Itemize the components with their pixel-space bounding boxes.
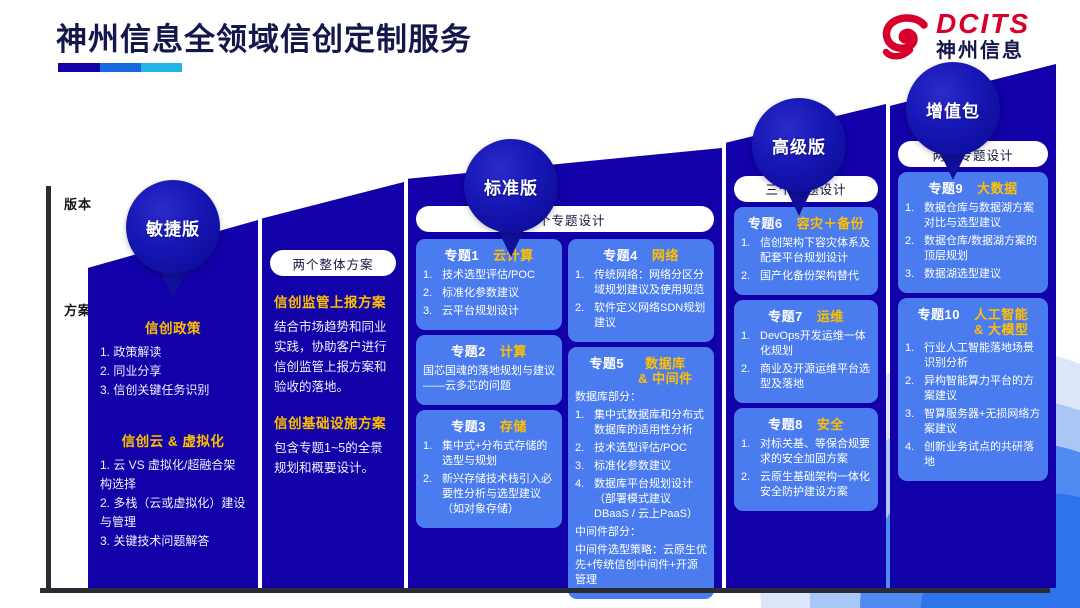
topic-card-item: 3.智算服务器+无损网络方案建议 — [905, 407, 1041, 437]
plan-block: 信创监管上报方案结合市场趋势和同业实践，协助客户进行信创监管上报方案和验收的落地… — [270, 281, 396, 397]
plan-block-heading: 信创监管上报方案 — [274, 291, 392, 311]
item-text: 数据库平台规划设计（部署模式建议 DBaaS / 云上PaaS） — [594, 477, 707, 522]
item-number: 2. — [575, 441, 588, 456]
item-number: 2. — [423, 472, 436, 517]
plan-block-text: 包含专题1~5的全景规划和概要设计。 — [274, 438, 392, 478]
item-number: 1. — [575, 268, 588, 298]
item-number: 2. — [423, 286, 436, 301]
dcits-swirl-icon — [880, 12, 932, 64]
topic-card-item: 4.数据库平台规划设计（部署模式建议 DBaaS / 云上PaaS） — [575, 477, 707, 522]
item-text: 数据湖选型建议 — [924, 267, 1041, 282]
plan-block-heading: 信创云 & 虚拟化 — [100, 430, 246, 450]
topic-card-title: 人工智能& 大模型 — [974, 307, 1029, 337]
pin-value-added[interactable]: 增值包 — [906, 62, 1000, 180]
item-number: 3. — [905, 267, 918, 282]
pin-label-standard: 标准版 — [464, 139, 558, 233]
plan-block-item: 3. 关键技术问题解答 — [100, 532, 246, 551]
plan-block: 信创政策1. 政策解读2. 同业分享3. 信创关键任务识别 — [96, 307, 250, 400]
plan-block: 信创基础设施方案包含专题1~5的全景规划和概要设计。 — [270, 402, 396, 478]
page-title: 神州信息全领域信创定制服务 — [56, 14, 472, 59]
item-number: 3. — [575, 459, 588, 474]
topic-card-item: 1.集中式数据库和分布式数据库的适用性分析 — [575, 408, 707, 438]
topic-card[interactable]: 专题2计算国芯国魂的落地规划与建议——云多芯的问题 — [416, 335, 562, 405]
topic-card-header: 专题8安全 — [741, 414, 871, 433]
item-text: 对标关基、等保合规要求的安全加固方案 — [760, 437, 871, 467]
topic-card-tail: 中间件选型策略：云原生优先+传统信创中间件+开源管理 — [575, 543, 707, 588]
topic-card-list: 1.技术选型评估/POC2.标准化参数建议3.云平台规划设计 — [423, 268, 555, 319]
topic-card-note-2: 中间件部分： — [575, 525, 707, 540]
column-content: 五个专题设计专题1云计算1.技术选型评估/POC2.标准化参数建议3.云平台规划… — [408, 200, 722, 588]
underline-segment-1 — [58, 63, 100, 72]
plan-block-item: 2. 多栈（云或虚拟化）建设与管理 — [100, 494, 246, 532]
topic-card-item: 1.集中式+分布式存储的选型与规划 — [423, 439, 555, 469]
topic-card-title: 计算 — [500, 344, 527, 359]
topic-card-header: 专题10人工智能& 大模型 — [905, 304, 1041, 337]
vertical-axis-line — [46, 186, 51, 588]
topic-card-header: 专题9大数据 — [905, 178, 1041, 197]
plan-block-item: 2. 同业分享 — [100, 362, 246, 381]
item-number: 3. — [905, 407, 918, 437]
title-underline — [58, 63, 182, 72]
underline-segment-2 — [100, 63, 141, 72]
plan-block-heading: 信创基础设施方案 — [274, 412, 392, 432]
topic-card-number: 专题5 — [589, 353, 624, 372]
item-text: 国产化备份架构替代 — [760, 269, 871, 284]
topic-card-number: 专题10 — [918, 304, 960, 323]
item-text: 技术选型评估/POC — [442, 268, 555, 283]
topic-card-list: 1.信创架构下容灾体系及配套平台规划设计2.国产化备份架构替代 — [741, 236, 871, 284]
topic-card-list: 1.数据仓库与数据湖方案对比与选型建议2.数据仓库/数据湖方案的顶层规划3.数据… — [905, 201, 1041, 282]
item-number: 2. — [741, 269, 754, 284]
item-number: 1. — [423, 439, 436, 469]
topic-card-list: 1.集中式数据库和分布式数据库的适用性分析2.技术选型评估/POC3.标准化参数… — [575, 408, 707, 522]
topic-card-number: 专题4 — [603, 245, 638, 264]
item-text: 智算服务器+无损网络方案建议 — [924, 407, 1041, 437]
item-text: 行业人工智能落地场景识别分析 — [924, 341, 1041, 371]
topic-card-list: 1.传统网络：网络分区分域规划建议及使用规范2.软件定义网络SDN规划建议 — [575, 268, 707, 331]
topic-card-item: 1.信创架构下容灾体系及配套平台规划设计 — [741, 236, 871, 266]
item-text: 集中式数据库和分布式数据库的适用性分析 — [594, 408, 707, 438]
pin-label-value-added: 增值包 — [906, 62, 1000, 156]
item-number: 1. — [423, 268, 436, 283]
baseline-rule — [40, 588, 1050, 593]
topic-card-list: 1.行业人工智能落地场景识别分析2.异构智能算力平台的方案建议3.智算服务器+无… — [905, 341, 1041, 470]
topic-card-number: 专题2 — [451, 341, 486, 360]
plan-block-heading: 信创政策 — [100, 317, 246, 337]
column-content: 两个整体方案信创监管上报方案结合市场趋势和同业实践，协助客户进行信创监管上报方案… — [262, 244, 404, 588]
topic-card-title: 大数据 — [977, 181, 1018, 196]
logo-dcits-text: DCITS — [936, 10, 1030, 38]
logo-wordmark: DCITS 神州信息 — [936, 10, 1030, 61]
topic-card-item: 1.DevOps开发运维一体化规划 — [741, 329, 871, 359]
topic-card[interactable]: 专题3存储1.集中式+分布式存储的选型与规划2.新兴存储技术栈引入必要性分析与选… — [416, 410, 562, 528]
topic-card-title: 数据库& 中间件 — [638, 356, 693, 386]
plan-block: 信创云 & 虚拟化1. 云 VS 虚拟化/超融合架构选择2. 多栈（云或虚拟化）… — [96, 420, 250, 551]
item-number: 4. — [575, 477, 588, 522]
item-text: 标准化参数建议 — [594, 459, 707, 474]
item-number: 2. — [905, 234, 918, 264]
topic-card-item: 2.异构智能算力平台的方案建议 — [905, 374, 1041, 404]
item-text: 商业及开源运维平台选型及落地 — [760, 362, 871, 392]
column-content: 三个专题设计专题6容灾＋备份1.信创架构下容灾体系及配套平台规划设计2.国产化备… — [726, 170, 886, 588]
item-text: 创新业务试点的共研落地 — [924, 440, 1041, 470]
topic-card-number: 专题8 — [768, 414, 803, 433]
topic-column-left: 专题1云计算1.技术选型评估/POC2.标准化参数建议3.云平台规划设计专题2计… — [416, 239, 562, 599]
pin-label-advanced: 高级版 — [752, 98, 846, 192]
item-text: 传统网络：网络分区分域规划建议及使用规范 — [594, 268, 707, 298]
spacer — [96, 405, 250, 415]
item-number: 4. — [905, 440, 918, 470]
item-text: DevOps开发运维一体化规划 — [760, 329, 871, 359]
topic-card-item: 2.数据仓库/数据湖方案的顶层规划 — [905, 234, 1041, 264]
plan-block-text: 结合市场趋势和同业实践，协助客户进行信创监管上报方案和验收的落地。 — [274, 317, 392, 397]
topic-column-right: 专题4网络1.传统网络：网络分区分域规划建议及使用规范2.软件定义网络SDN规划… — [568, 239, 714, 599]
topic-card-item: 3.数据湖选型建议 — [905, 267, 1041, 282]
item-number: 2. — [575, 301, 588, 331]
topic-card-header: 专题5数据库& 中间件 — [575, 353, 707, 386]
topic-card-item: 2.新兴存储技术栈引入必要性分析与选型建议（如对象存储） — [423, 472, 555, 517]
plan-block-item: 1. 政策解读 — [100, 343, 246, 362]
topic-card-item: 1.对标关基、等保合规要求的安全加固方案 — [741, 437, 871, 467]
topic-card-note: 国芯国魂的落地规划与建议——云多芯的问题 — [423, 364, 555, 394]
topic-card[interactable]: 专题9大数据1.数据仓库与数据湖方案对比与选型建议2.数据仓库/数据湖方案的顶层… — [898, 172, 1048, 293]
item-text: 云平台规划设计 — [442, 304, 555, 319]
topic-card-item: 2.商业及开源运维平台选型及落地 — [741, 362, 871, 392]
topic-card-item: 4.创新业务试点的共研落地 — [905, 440, 1041, 470]
section-pill: 五个专题设计 — [416, 206, 714, 232]
topic-card-number: 专题3 — [451, 416, 486, 435]
topic-grid: 专题1云计算1.技术选型评估/POC2.标准化参数建议3.云平台规划设计专题2计… — [416, 239, 714, 599]
topic-card[interactable]: 专题5数据库& 中间件数据库部分：1.集中式数据库和分布式数据库的适用性分析2.… — [568, 347, 714, 599]
item-text: 云原生基础架构一体化安全防护建设方案 — [760, 470, 871, 500]
item-number: 1. — [741, 236, 754, 266]
topic-card-list: 1.DevOps开发运维一体化规划2.商业及开源运维平台选型及落地 — [741, 329, 871, 392]
topic-card-number: 专题7 — [768, 306, 803, 325]
topic-card-item: 2.软件定义网络SDN规划建议 — [575, 301, 707, 331]
topic-card-header: 专题4网络 — [575, 245, 707, 264]
topic-card-header: 专题2计算 — [423, 341, 555, 360]
item-number: 1. — [741, 329, 754, 359]
topic-card-note: 数据库部分： — [575, 390, 707, 405]
topic-card-item: 1.行业人工智能落地场景识别分析 — [905, 341, 1041, 371]
item-text: 数据仓库与数据湖方案对比与选型建议 — [924, 201, 1041, 231]
column-content: 信创政策1. 政策解读2. 同业分享3. 信创关键任务识别信创云 & 虚拟化1.… — [88, 301, 258, 588]
item-number: 1. — [905, 341, 918, 371]
column-content: 两个专题设计专题9大数据1.数据仓库与数据湖方案对比与选型建议2.数据仓库/数据… — [890, 135, 1056, 588]
item-text: 异构智能算力平台的方案建议 — [924, 374, 1041, 404]
pin-label-agile: 敏捷版 — [126, 180, 220, 274]
topic-card-item: 3.标准化参数建议 — [575, 459, 707, 474]
topic-card[interactable]: 专题6容灾＋备份1.信创架构下容灾体系及配套平台规划设计2.国产化备份架构替代 — [734, 207, 878, 295]
topic-card-item: 2.云原生基础架构一体化安全防护建设方案 — [741, 470, 871, 500]
item-text: 数据仓库/数据湖方案的顶层规划 — [924, 234, 1041, 264]
topic-card-item: 1.传统网络：网络分区分域规划建议及使用规范 — [575, 268, 707, 298]
plan-block-item: 3. 信创关键任务识别 — [100, 381, 246, 400]
topic-card-title: 运维 — [817, 309, 844, 324]
item-number: 1. — [905, 201, 918, 231]
item-text: 新兴存储技术栈引入必要性分析与选型建议（如对象存储） — [442, 472, 555, 517]
axis-label-version: 版本 — [64, 194, 92, 213]
topic-card-header: 专题7运维 — [741, 306, 871, 325]
brand-logo: DCITS 神州信息 — [880, 6, 1060, 70]
topic-card-item: 1.技术选型评估/POC — [423, 268, 555, 283]
topic-card-title: 容灾＋备份 — [797, 216, 865, 231]
topic-card[interactable]: 专题4网络1.传统网络：网络分区分域规划建议及使用规范2.软件定义网络SDN规划… — [568, 239, 714, 342]
topic-card-item: 3.云平台规划设计 — [423, 304, 555, 319]
item-number: 2. — [741, 362, 754, 392]
topic-card-list: 1.对标关基、等保合规要求的安全加固方案2.云原生基础架构一体化安全防护建设方案 — [741, 437, 871, 500]
topic-card-title: 存储 — [500, 419, 527, 434]
item-text: 标准化参数建议 — [442, 286, 555, 301]
item-text: 软件定义网络SDN规划建议 — [594, 301, 707, 331]
topic-card-title: 安全 — [817, 417, 844, 432]
topic-card[interactable]: 专题8安全1.对标关基、等保合规要求的安全加固方案2.云原生基础架构一体化安全防… — [734, 408, 878, 511]
topic-card-number: 专题9 — [928, 178, 963, 197]
item-number: 2. — [741, 470, 754, 500]
item-number: 3. — [423, 304, 436, 319]
pin-agile[interactable]: 敏捷版 — [126, 180, 220, 298]
column-standard-overall[interactable]: 两个整体方案信创监管上报方案结合市场趋势和同业实践，协助客户进行信创监管上报方案… — [262, 182, 404, 588]
topic-card-item: 2.标准化参数建议 — [423, 286, 555, 301]
item-number: 1. — [575, 408, 588, 438]
pin-advanced[interactable]: 高级版 — [752, 98, 846, 216]
topic-card-item: 1.数据仓库与数据湖方案对比与选型建议 — [905, 201, 1041, 231]
item-number: 1. — [741, 437, 754, 467]
topic-card-list: 1.集中式+分布式存储的选型与规划2.新兴存储技术栈引入必要性分析与选型建议（如… — [423, 439, 555, 517]
topic-card-title: 网络 — [652, 248, 679, 263]
topic-card-item: 2.技术选型评估/POC — [575, 441, 707, 456]
item-text: 集中式+分布式存储的选型与规划 — [442, 439, 555, 469]
plan-block-item: 1. 云 VS 虚拟化/超融合架构选择 — [100, 456, 246, 494]
item-text: 信创架构下容灾体系及配套平台规划设计 — [760, 236, 871, 266]
underline-segment-3 — [141, 63, 182, 72]
column-standard-topics[interactable]: 五个专题设计专题1云计算1.技术选型评估/POC2.标准化参数建议3.云平台规划… — [408, 148, 722, 588]
logo-chinese-text: 神州信息 — [936, 41, 1030, 61]
topic-card[interactable]: 专题10人工智能& 大模型1.行业人工智能落地场景识别分析2.异构智能算力平台的… — [898, 298, 1048, 481]
topic-card[interactable]: 专题7运维1.DevOps开发运维一体化规划2.商业及开源运维平台选型及落地 — [734, 300, 878, 403]
topic-card-header: 专题3存储 — [423, 416, 555, 435]
topic-card-item: 2.国产化备份架构替代 — [741, 269, 871, 284]
item-text: 技术选型评估/POC — [594, 441, 707, 456]
slide-canvas: 神州信息全领域信创定制服务 DCITS 神州信息 版本 方案 信创政策1. 政策… — [0, 0, 1080, 608]
pin-standard[interactable]: 标准版 — [464, 139, 558, 257]
item-number: 2. — [905, 374, 918, 404]
section-pill: 两个整体方案 — [270, 250, 396, 276]
